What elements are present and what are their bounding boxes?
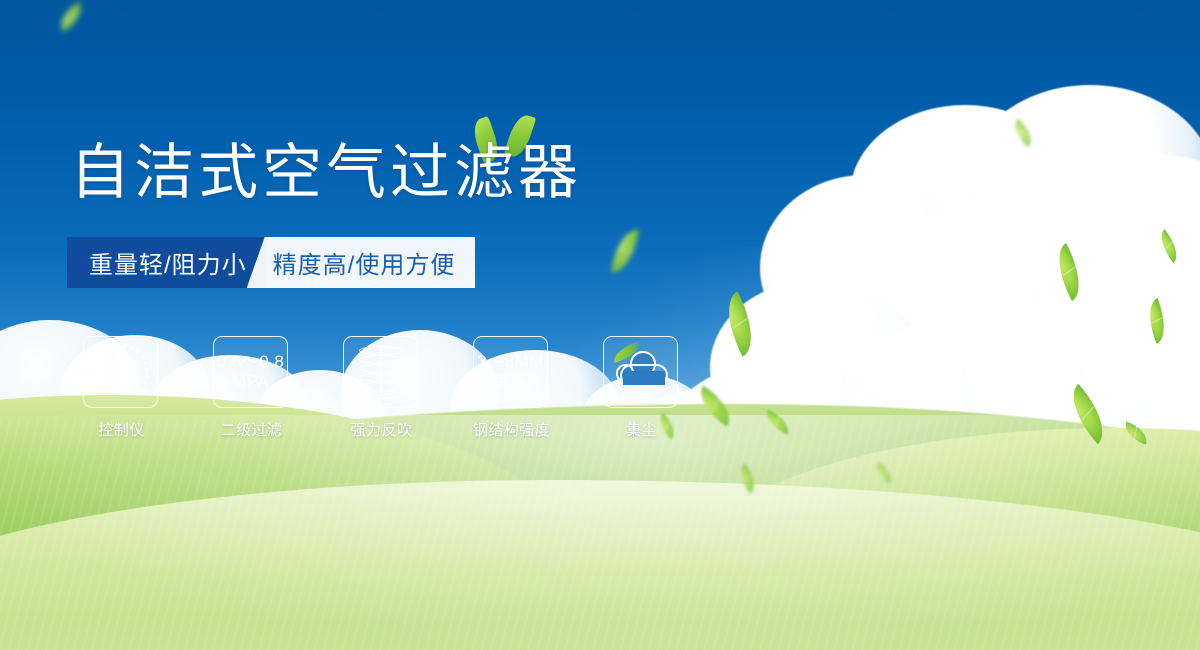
feature-item-pressure[interactable]: 0.6～0.8 MPA 二级过滤 (213, 336, 290, 440)
feature-item-backblow[interactable]: 强力反吹 (343, 336, 420, 440)
dial-no-label: NO (89, 368, 100, 375)
feature-label: 钢结构强度 (465, 419, 558, 440)
air-label: Air (610, 384, 672, 398)
feature-icon-box: NO OFF (83, 336, 158, 408)
steel-plate-text-icon: 3～8MM 钢板 (477, 352, 544, 392)
feature-icon-box: 0.6～0.8 MPA (213, 336, 288, 408)
feature-icon-box: Air (603, 336, 678, 408)
subtitle-primary: 重量轻/阻力小 (67, 237, 265, 288)
feature-icon-box (343, 336, 418, 408)
filter-coil-icon (358, 345, 404, 399)
subtitle-secondary: 精度高/使用方便 (247, 237, 476, 288)
feature-item-dust-collection[interactable]: Air 集尘 (603, 336, 680, 440)
product-hero-banner: 自洁式空气过滤器 重量轻/阻力小 精度高/使用方便 (0, 0, 1200, 650)
feature-icon-box: 3～8MM 钢板 (473, 336, 548, 408)
subtitle-bar: 重量轻/阻力小 精度高/使用方便 (67, 237, 475, 288)
feature-label: 集尘 (595, 419, 688, 440)
page-title: 自洁式空气过滤器 (70, 143, 582, 203)
dial-off-label: OFF (136, 387, 153, 398)
air-cloud-icon: Air (610, 347, 672, 397)
feature-label: 控制仪 (83, 419, 160, 440)
feature-item-steel-plate[interactable]: 3～8MM 钢板 钢结构强度 (473, 336, 550, 440)
feature-list: NO OFF 控制仪 0.6～0.8 MPA 二级过滤 (83, 336, 680, 440)
feature-label: 二级过滤 (213, 419, 290, 440)
sky-background (0, 0, 1200, 650)
feature-label: 强力反吹 (343, 419, 420, 440)
pressure-text-icon: 0.6～0.8 MPA (217, 352, 285, 392)
control-dial-icon: NO OFF (91, 343, 151, 401)
feature-item-control-dial[interactable]: NO OFF 控制仪 (83, 336, 160, 440)
